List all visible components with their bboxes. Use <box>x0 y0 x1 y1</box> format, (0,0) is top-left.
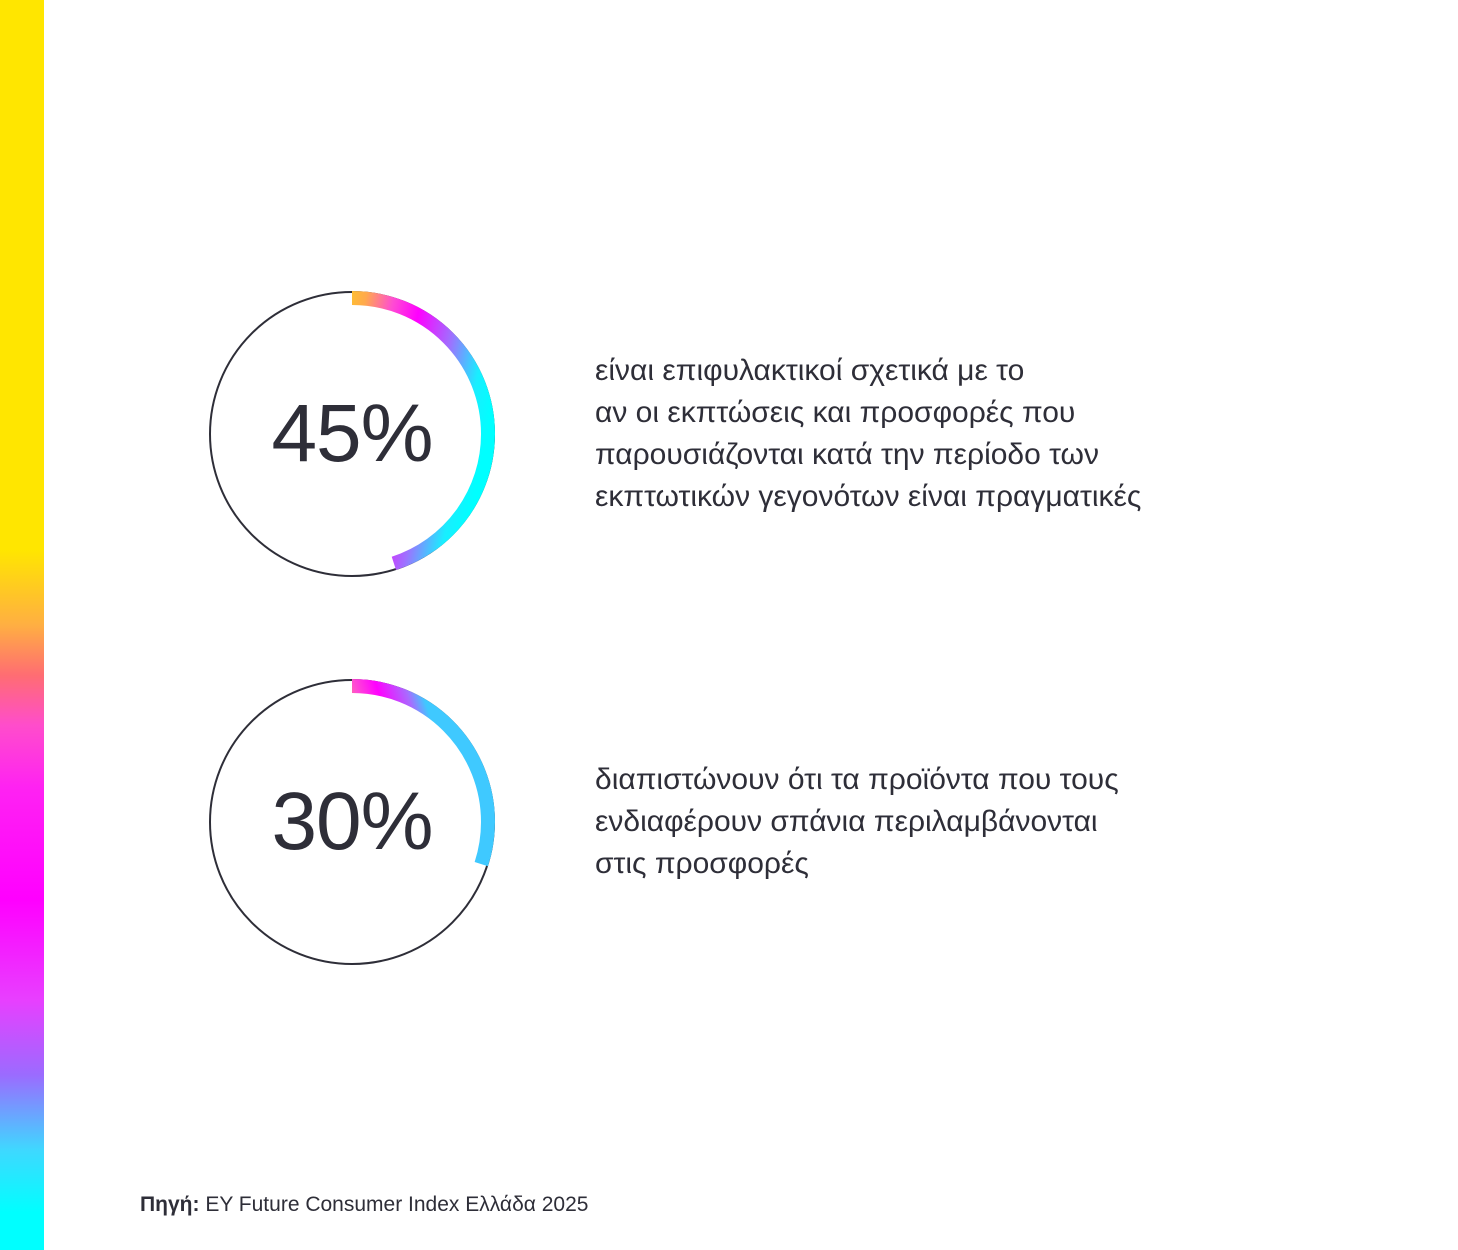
brand-gradient-bar <box>0 0 44 1250</box>
donut-value-30: 30% <box>209 679 495 965</box>
source-label: Πηγή: <box>140 1193 200 1216</box>
stat-description-45: είναι επιφυλακτικοί σχετικά με το αν οι … <box>595 350 1141 518</box>
source-note: Πηγή: EY Future Consumer Index Ελλάδα 20… <box>140 1192 588 1217</box>
stat-description-30: διαπιστώνουν ότι τα προϊόντα που τους εν… <box>595 759 1119 885</box>
stat-block-30: 30% διαπιστώνουν ότι τα προϊόντα που του… <box>209 679 1119 965</box>
source-text: EY Future Consumer Index Ελλάδα 2025 <box>200 1193 589 1216</box>
donut-chart-30: 30% <box>209 679 495 965</box>
donut-chart-45: 45% <box>209 291 495 577</box>
donut-value-45: 45% <box>209 291 495 577</box>
stat-block-45: 45% είναι επιφυλακτικοί σχετικά με το αν… <box>209 291 1141 577</box>
